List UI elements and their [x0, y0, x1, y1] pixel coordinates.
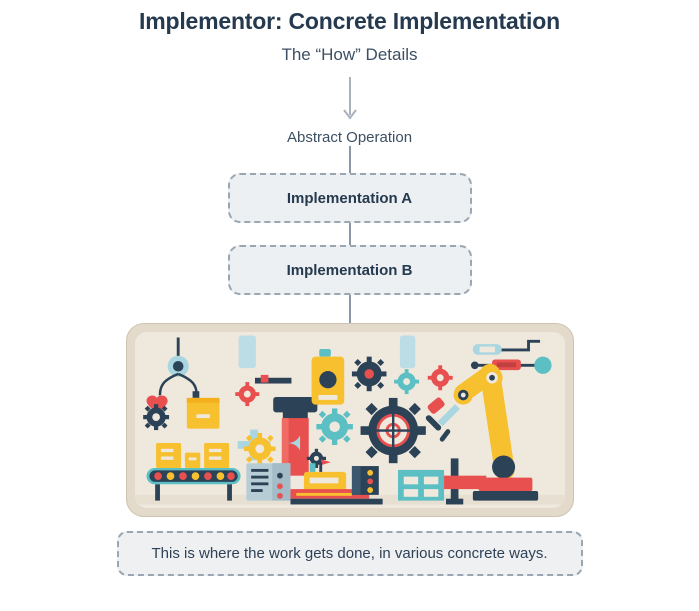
implementation-a-box[interactable]: Implementation A	[228, 173, 472, 223]
connector-impl-b-to-illustration	[349, 295, 351, 323]
implementation-b-box[interactable]: Implementation B	[228, 245, 472, 295]
gear-yellow-mid	[243, 433, 275, 465]
slide-root: Implementor: Concrete Implementation The…	[0, 0, 699, 611]
chute-right	[399, 336, 414, 369]
arrow-down-icon	[340, 77, 360, 123]
target-gear	[360, 398, 425, 463]
page-title: Implementor: Concrete Implementation	[139, 8, 560, 35]
caption-box: This is where the work gets done, in var…	[117, 531, 583, 576]
abstract-operation-label: Abstract Operation	[287, 129, 412, 146]
control-panel	[246, 463, 290, 500]
implementation-b-label: Implementation B	[287, 262, 413, 279]
chute-left	[238, 336, 255, 369]
factory-scene-svg	[135, 332, 565, 508]
illustration-frame	[126, 323, 574, 517]
yellow-press-unit	[311, 349, 344, 405]
connector-abstract-to-impl-a	[349, 146, 351, 173]
implementation-a-label: Implementation A	[287, 190, 412, 207]
flow-arrow-container	[340, 77, 360, 123]
caption-text: This is where the work gets done, in var…	[151, 545, 547, 562]
gear-teal-mid	[316, 408, 352, 444]
connector-impl-a-to-impl-b	[349, 223, 351, 245]
page-subtitle: The “How” Details	[281, 45, 417, 65]
factory-automation-illustration	[135, 332, 565, 508]
gear-navy-top	[351, 357, 386, 392]
hanging-box	[186, 398, 219, 429]
